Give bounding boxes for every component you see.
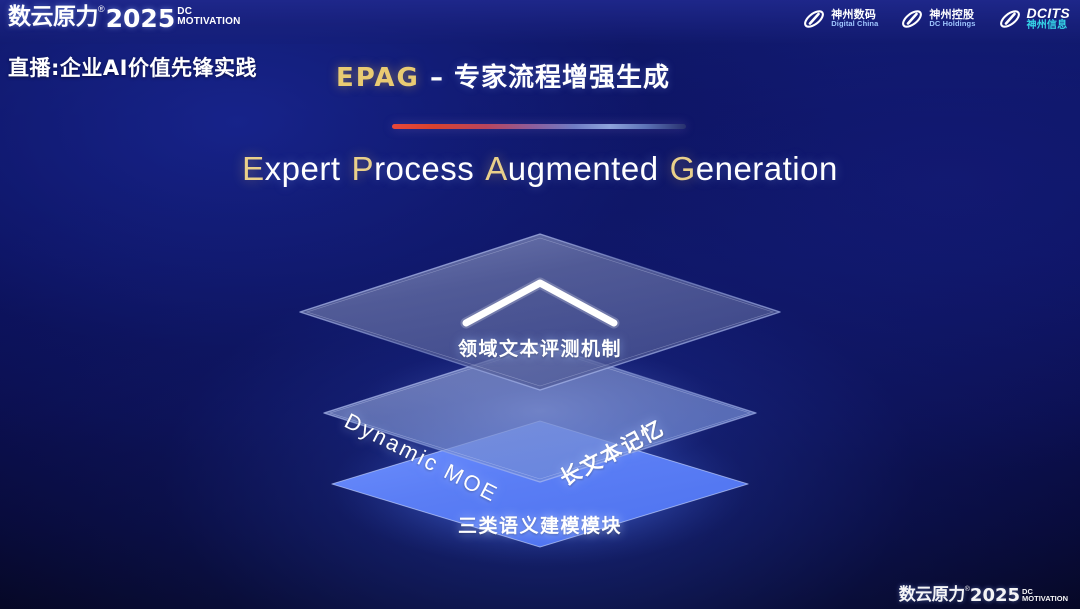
word-2-rest: rocess	[374, 150, 474, 187]
word-3-cap: A	[485, 150, 508, 187]
layer-top	[300, 234, 780, 390]
swirl-logo-icon	[900, 7, 924, 31]
word-1-rest: xpert	[265, 150, 341, 187]
layer-stack-diagram: 领域文本评测机制 Dynamic MOE 长文本记忆 三类语义建模模块	[288, 226, 792, 571]
watermark-registered-mark: ®	[965, 586, 970, 593]
brand-dc-line2: MOTIVATION	[177, 17, 240, 27]
word-2-cap: P	[352, 150, 375, 187]
brand-registered-mark: ®	[98, 5, 105, 14]
partner-name-en: DCITS	[1027, 6, 1071, 21]
presentation-slide: 数云原力 ® 2025 DC MOTIVATION 直播:企业AI价值先锋实践 …	[0, 0, 1080, 609]
partner-logo-group: 神州数码 Digital China 神州控股 DC Holdings DCIT…	[802, 6, 1070, 31]
layer-stack-svg	[288, 226, 792, 571]
slide-title: EPAG – 专家流程增强生成	[336, 57, 670, 94]
partner-digital-china: 神州数码 Digital China	[802, 7, 878, 31]
word-4-rest: eneration	[696, 150, 838, 187]
partner-dcits-text: DCITS 神州信息	[1027, 6, 1071, 31]
title-acronym: EPAG	[336, 63, 420, 93]
title-separator: –	[420, 63, 454, 93]
word-3-rest: ugmented	[508, 150, 659, 187]
brand-name-cn: 数云原力	[8, 6, 98, 29]
english-title: ExpertProcessAugmentedGeneration	[0, 150, 1080, 188]
watermark-dc-line2: MOTIVATION	[1022, 595, 1068, 602]
watermark-year: 2025	[970, 587, 1020, 605]
brand-dc-motivation: DC MOTIVATION	[177, 7, 240, 26]
partner-digital-china-text: 神州数码 Digital China	[831, 9, 878, 28]
brand-year: 2025	[106, 6, 176, 31]
title-divider	[392, 124, 686, 129]
title-chinese: 专家流程增强生成	[454, 63, 670, 93]
partner-dc-holdings: 神州控股 DC Holdings	[900, 7, 975, 31]
watermark-name-cn: 数云原力	[899, 587, 965, 604]
watermark-dc-motivation: DC MOTIVATION	[1022, 588, 1068, 602]
watermark-logo: 数云原力 ® 2025 DC MOTIVATION	[899, 587, 1068, 605]
partner-name-en: Digital China	[831, 20, 878, 28]
partner-name-cn: 神州信息	[1027, 21, 1071, 32]
word-4-cap: G	[670, 150, 696, 187]
swirl-logo-icon	[802, 7, 826, 31]
live-subtitle: 直播:企业AI价值先锋实践	[8, 52, 257, 82]
partner-name-en: DC Holdings	[929, 20, 975, 28]
word-1-cap: E	[242, 150, 265, 187]
partner-dc-holdings-text: 神州控股 DC Holdings	[929, 9, 975, 28]
brand-logo: 数云原力 ® 2025 DC MOTIVATION	[8, 6, 241, 31]
partner-dcits: DCITS 神州信息	[998, 6, 1071, 31]
swirl-logo-icon	[998, 7, 1022, 31]
